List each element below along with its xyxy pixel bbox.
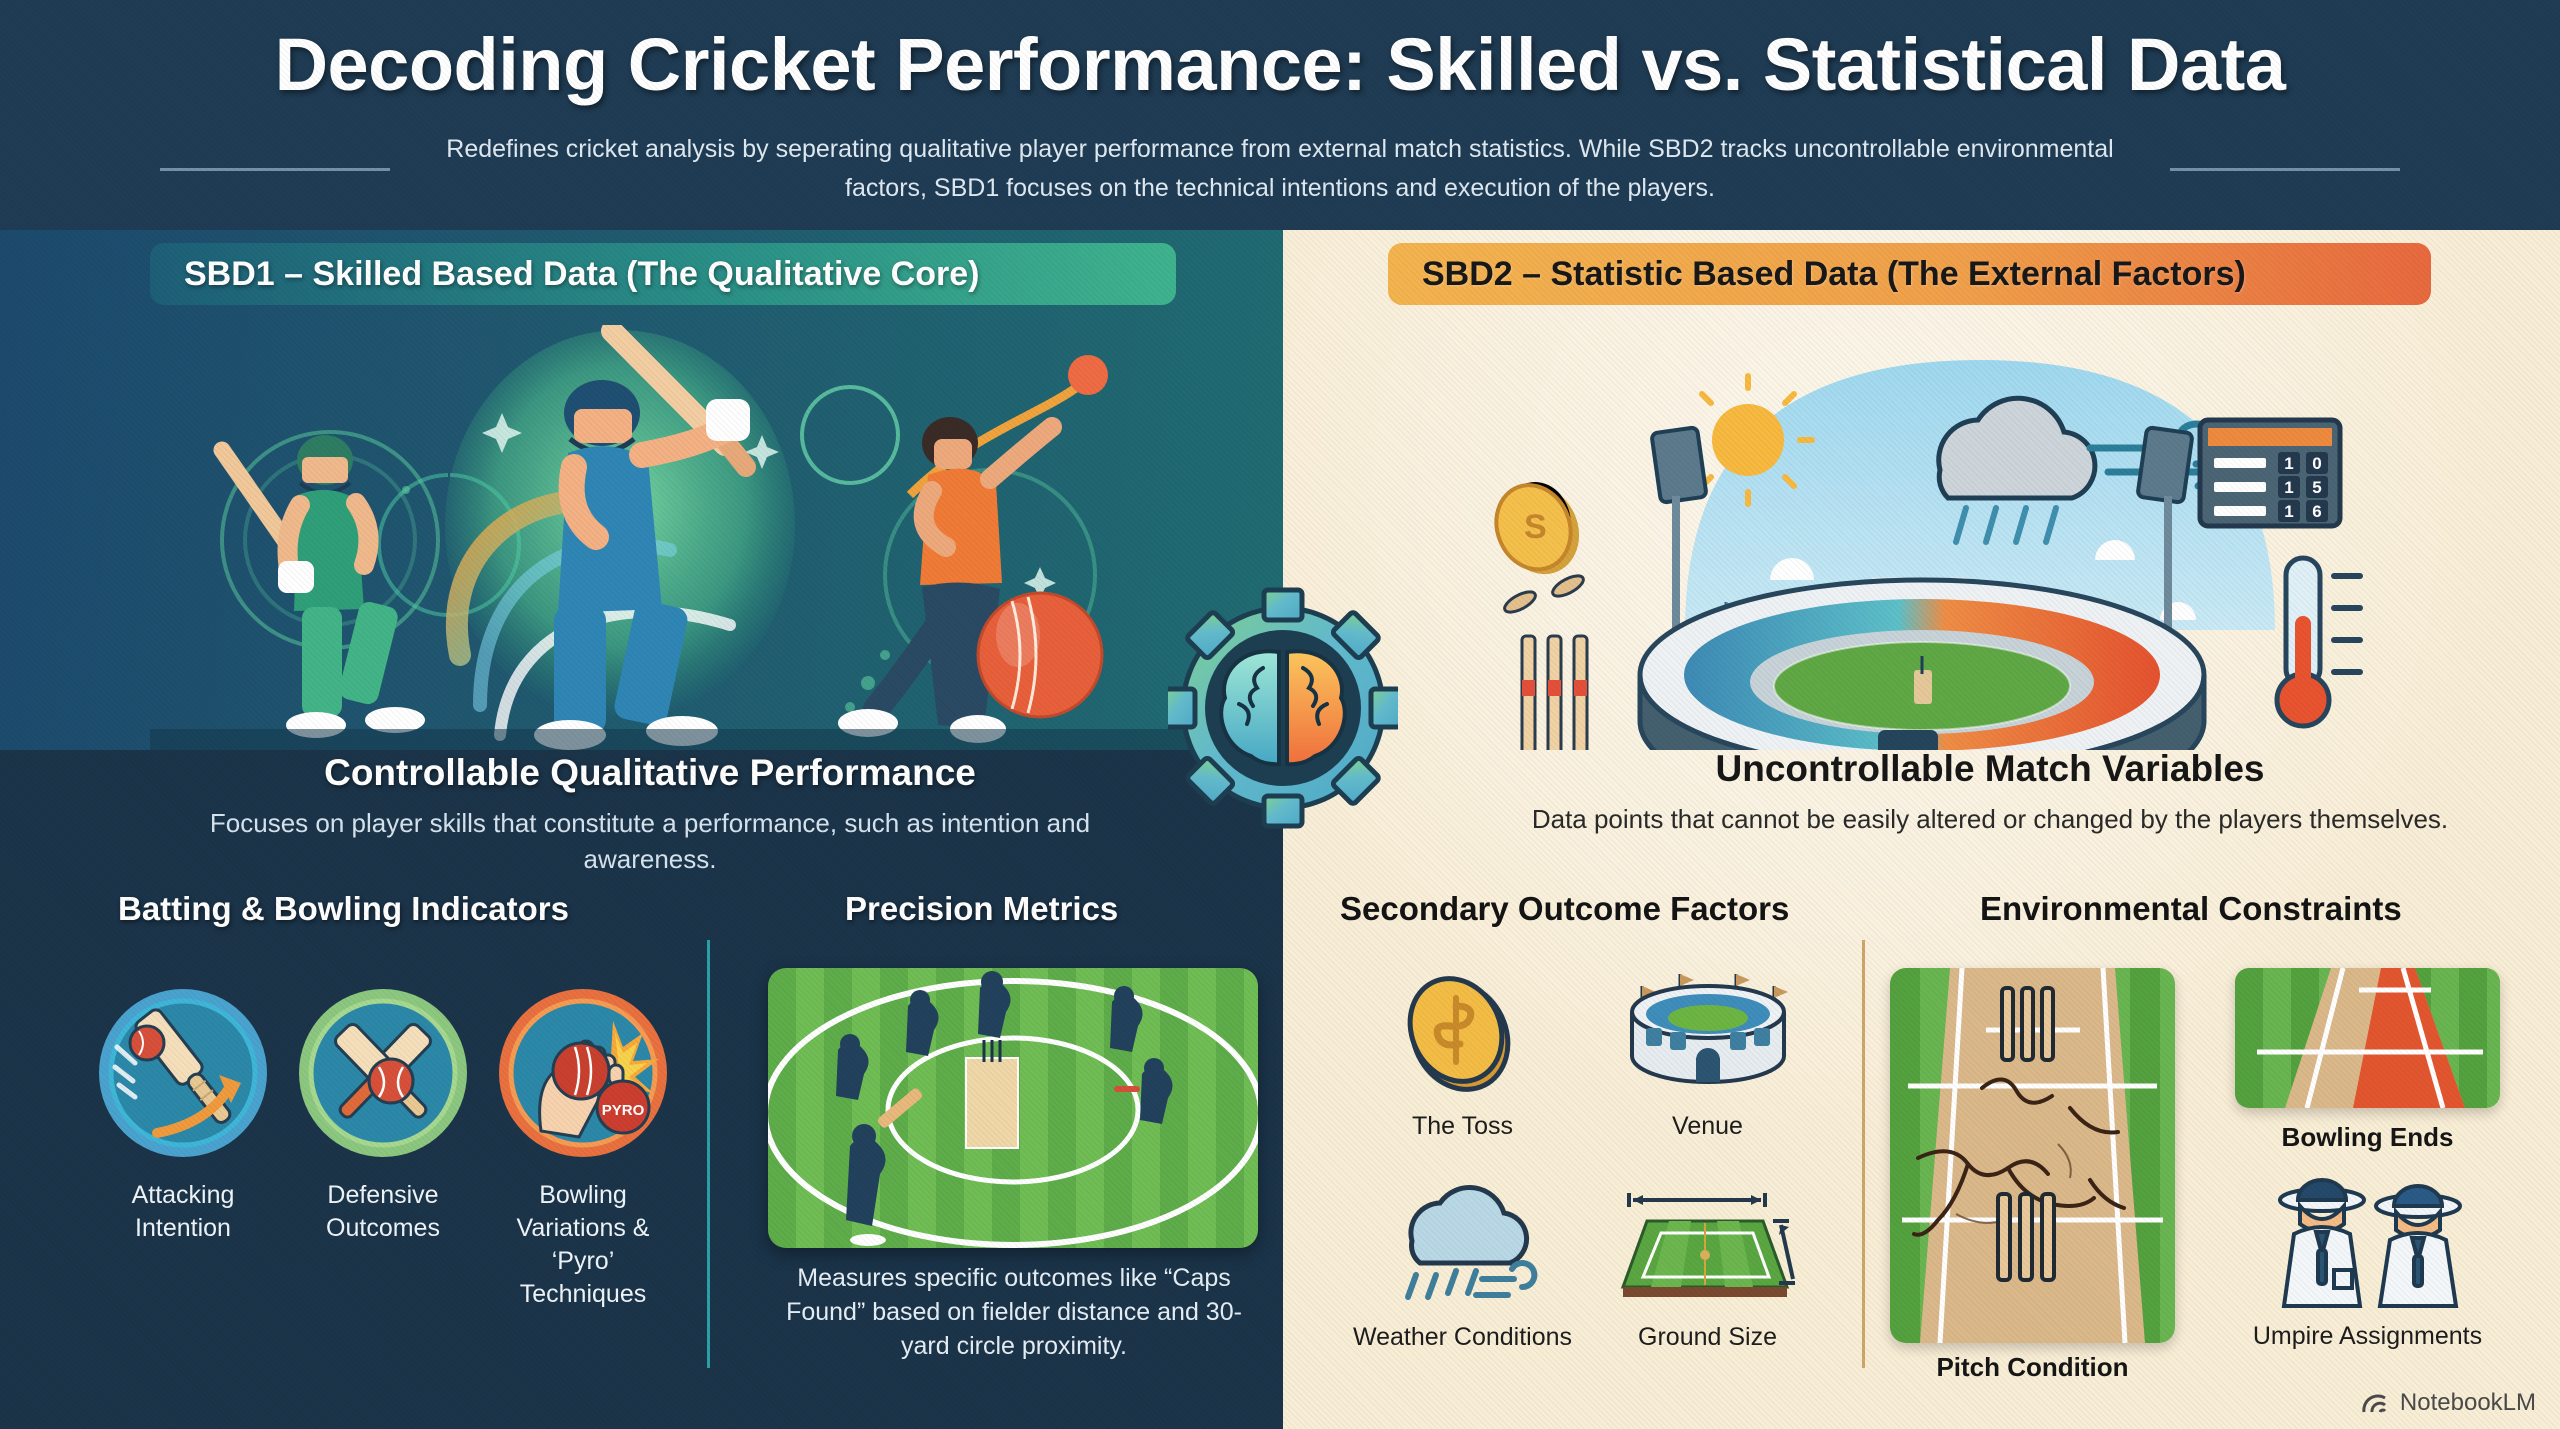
- banner-sbd2: SBD2 – Statistic Based Data (The Externa…: [1388, 243, 2431, 305]
- heading-environmental-constraints: Environmental Constraints: [1980, 890, 2402, 928]
- svg-text:S: S: [1524, 508, 1547, 546]
- svg-text:1: 1: [2284, 454, 2293, 473]
- badge-label: Attacking Intention: [95, 1179, 271, 1245]
- factor-label: Weather Conditions: [1340, 1321, 1585, 1354]
- svg-text:6: 6: [2312, 502, 2321, 521]
- heading-precision-metrics: Precision Metrics: [845, 890, 1118, 928]
- notebooklm-icon: [2361, 1392, 2391, 1414]
- stadium-icon: [1618, 968, 1798, 1098]
- crossed-bats-ball-icon: [295, 985, 471, 1161]
- secondary-outcome-factors-grid: The Toss: [1340, 968, 1830, 1353]
- factor-label: The Toss: [1340, 1110, 1585, 1143]
- right-summary-heading: Uncontrollable Match Variables: [1480, 748, 2500, 791]
- hand-holding-flaming-ball-icon: PYRO: [495, 985, 671, 1161]
- two-umpires-icon: [2250, 1172, 2485, 1312]
- cracked-pitch-icon: [1890, 968, 2175, 1343]
- right-column-divider: [1862, 940, 1865, 1368]
- badge-attacking-intention[interactable]: Attacking Intention: [95, 985, 271, 1311]
- left-column-divider: [707, 940, 710, 1368]
- cricket-players-action-illustration: [150, 325, 1210, 750]
- svg-text:5: 5: [2312, 478, 2321, 497]
- factor-label: Venue: [1585, 1110, 1830, 1143]
- badge-bowling-variations[interactable]: PYRO Bowling Variations & ‘Pyro’ Techniq…: [495, 985, 671, 1311]
- badge-label: Bowling Variations & ‘Pyro’ Techniques: [495, 1179, 671, 1311]
- factor-label: Ground Size: [1585, 1321, 1830, 1354]
- heading-secondary-outcome-factors: Secondary Outcome Factors: [1340, 890, 1789, 928]
- page-subtitle: Redefines cricket analysis by seperating…: [390, 130, 2170, 208]
- left-summary-body: Focuses on player skills that constitute…: [150, 805, 1150, 878]
- pitch-condition-label: Pitch Condition: [1845, 1352, 2220, 1383]
- ground-dimensions-icon: [1613, 1179, 1803, 1309]
- svg-text:1: 1: [2284, 502, 2293, 521]
- factor-weather-conditions[interactable]: Weather Conditions: [1340, 1179, 1585, 1354]
- infographic-poster: Decoding Cricket Performance: Skilled vs…: [0, 0, 2560, 1429]
- svg-text:1: 1: [2284, 478, 2293, 497]
- subtitle-row: Redefines cricket analysis by seperating…: [120, 130, 2440, 208]
- right-summary: Uncontrollable Match Variables Data poin…: [1480, 748, 2500, 837]
- page-title: Decoding Cricket Performance: Skilled vs…: [275, 28, 2286, 102]
- banner-sbd1: SBD1 – Skilled Based Data (The Qualitati…: [150, 243, 1176, 305]
- factor-ground-size[interactable]: Ground Size: [1585, 1179, 1830, 1354]
- scoreboard: 10 15 16: [2200, 420, 2340, 526]
- factor-the-toss[interactable]: The Toss: [1340, 968, 1585, 1143]
- left-summary: Controllable Qualitative Performance Foc…: [150, 752, 1150, 877]
- factor-venue[interactable]: Venue: [1585, 968, 1830, 1143]
- watermark-label: NotebookLM: [2400, 1389, 2536, 1417]
- rain-cloud-wind-icon: [1388, 1179, 1538, 1309]
- right-summary-body: Data points that cannot be easily altere…: [1480, 801, 2500, 837]
- batting-bowling-badges: Attacking Intention: [95, 985, 675, 1311]
- precision-metrics-caption: Measures specific outcomes like “Caps Fo…: [768, 1262, 1260, 1363]
- ball-and-bat-icon: [95, 985, 271, 1161]
- rule-left: [160, 168, 390, 171]
- coin-icon: [1398, 968, 1528, 1098]
- rule-right: [2170, 168, 2400, 171]
- fielding-positions-diagram: [768, 968, 1258, 1248]
- bowling-ends-icon: [2235, 968, 2500, 1108]
- heading-batting-bowling-indicators: Batting & Bowling Indicators: [118, 890, 569, 928]
- stadium-environment-illustration: S: [1470, 330, 2490, 750]
- badge-label: Defensive Outcomes: [295, 1179, 471, 1245]
- umpire-assignments-label: Umpire Assignments: [2190, 1320, 2545, 1353]
- badge-defensive-outcomes[interactable]: Defensive Outcomes: [295, 985, 471, 1311]
- left-summary-heading: Controllable Qualitative Performance: [150, 752, 1150, 795]
- watermark: NotebookLM: [2361, 1389, 2536, 1417]
- bowling-ends-label: Bowling Ends: [2190, 1122, 2545, 1153]
- svg-text:PYRO: PYRO: [602, 1102, 645, 1119]
- brain-gear-icon: [1168, 578, 1398, 838]
- header-band: Decoding Cricket Performance: Skilled vs…: [0, 0, 2560, 230]
- svg-text:0: 0: [2312, 454, 2321, 473]
